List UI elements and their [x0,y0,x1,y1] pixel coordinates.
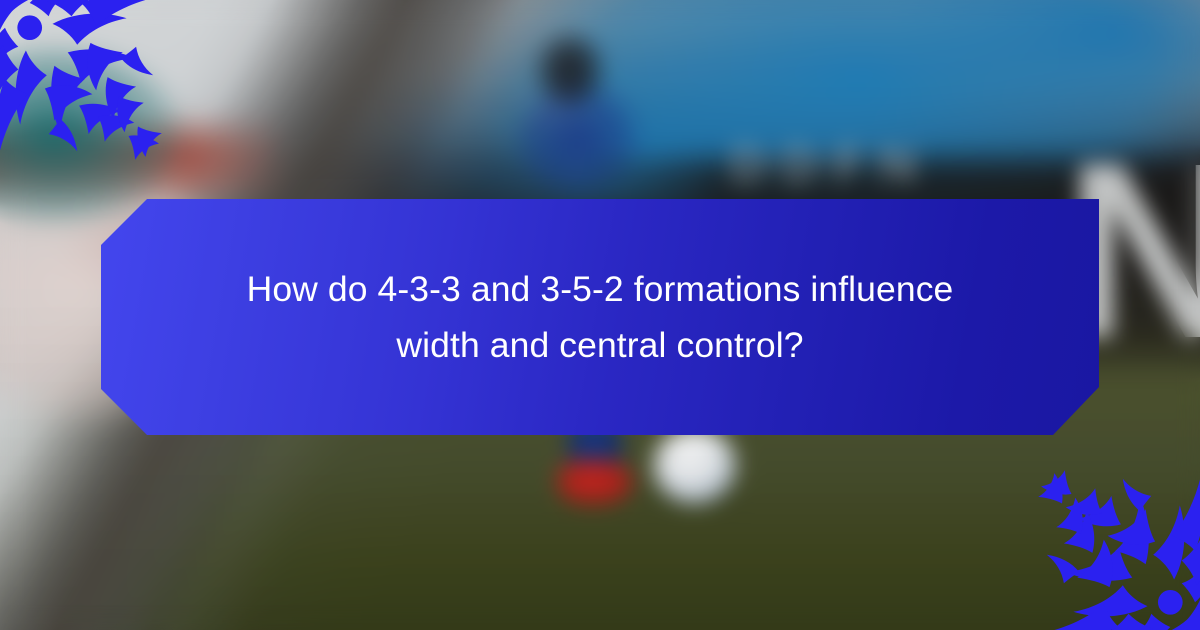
headline-banner: How do 4-3-3 and 3-5-2 formations influe… [101,199,1099,435]
headline-line-1: How do 4-3-3 and 3-5-2 formations influe… [247,261,954,317]
headline-line-2: width and central control? [396,317,803,373]
banner-text-block: How do 4-3-3 and 3-5-2 formations influe… [101,199,1099,435]
social-card: DDFN N [0,0,1200,630]
